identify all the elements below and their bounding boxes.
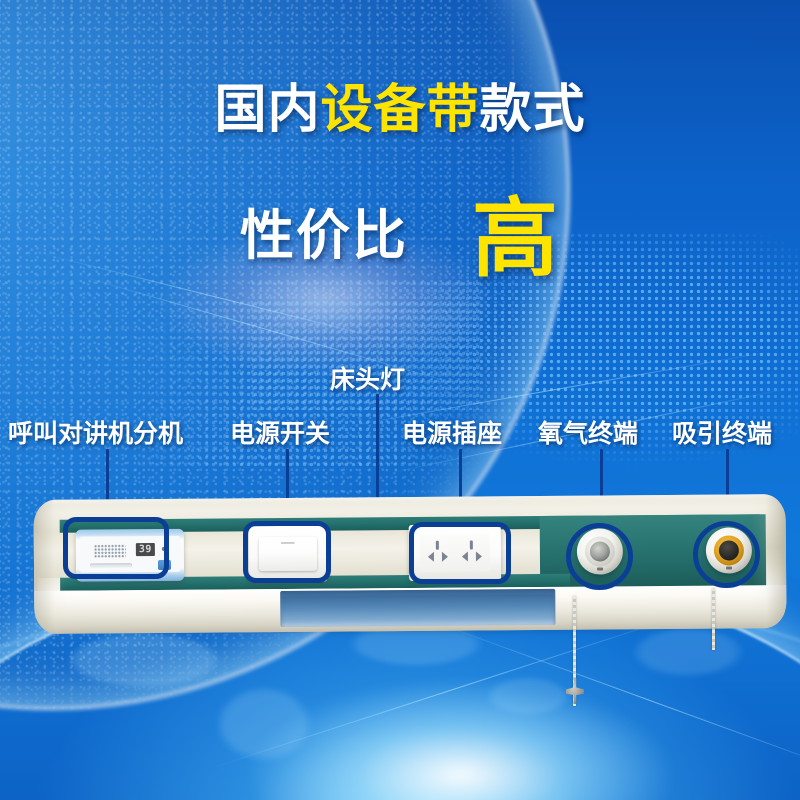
highlight-power-socket	[409, 522, 511, 584]
subheadline: 性价比高	[0, 168, 800, 293]
callout-label-bed-lamp: 床头灯	[330, 360, 405, 396]
headline-accent: 设备带	[320, 81, 479, 139]
subheadline-main: 性价比	[240, 206, 408, 266]
horizon-glow	[250, 680, 670, 800]
highlight-oxygen	[566, 523, 633, 590]
promo-banner: 国内设备带款式 性价比高 呼叫对讲机分机 电源开关 床头灯 电源插座 氧气终端 …	[0, 0, 800, 800]
callout-label-power-socket: 电源插座	[402, 414, 502, 450]
callout-label-intercom: 呼叫对讲机分机	[8, 414, 183, 450]
callout-label-suction: 吸引终端	[672, 414, 772, 450]
highlight-power-switch	[243, 521, 331, 583]
headline-part2: 款式	[480, 81, 586, 139]
suction-pull-cord[interactable]	[712, 588, 715, 650]
callout-label-oxygen: 氧气终端	[538, 414, 638, 450]
highlight-intercom	[63, 517, 169, 579]
headline-part1: 国内	[214, 81, 320, 139]
bed-lamp-diffuser[interactable]	[280, 589, 555, 627]
highlight-suction	[693, 521, 760, 588]
subheadline-accent: 高	[472, 191, 560, 287]
callout-label-power-switch: 电源开关	[230, 414, 330, 450]
headline: 国内设备带款式	[0, 84, 800, 136]
